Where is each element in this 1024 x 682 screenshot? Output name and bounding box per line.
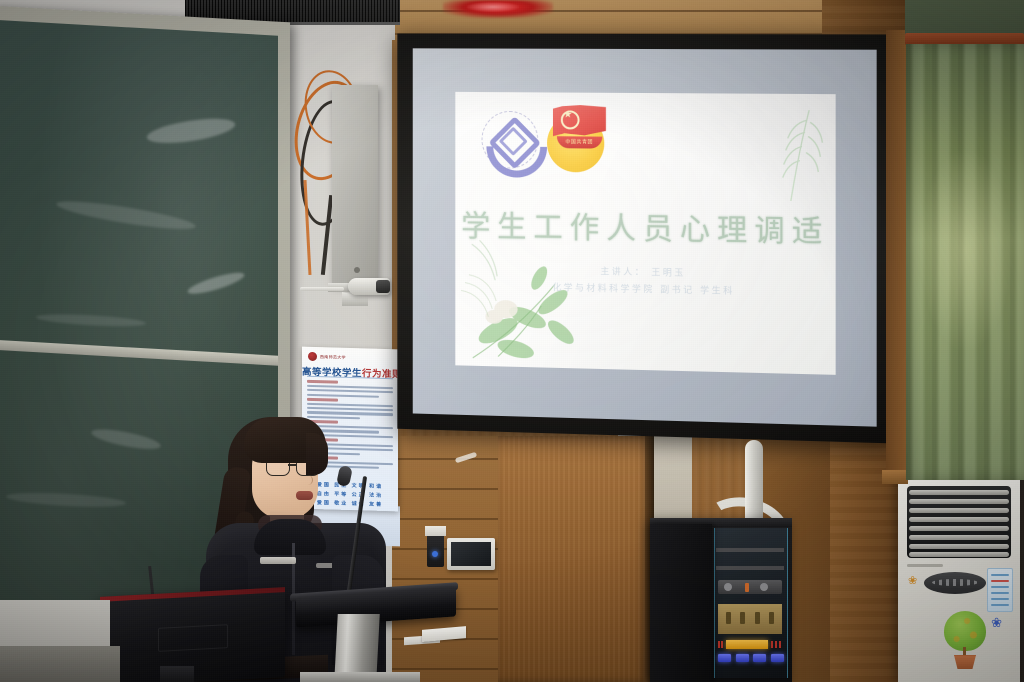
youth-league-emblem-icon: 中国共青团 — [545, 105, 610, 171]
wall-switch[interactable] — [427, 533, 444, 567]
ac-control-display[interactable] — [924, 572, 986, 594]
screen-mat: 中国共青团 — [413, 48, 877, 426]
presenter-mouth — [296, 491, 313, 500]
presentation-slide: 中国共青团 — [455, 92, 835, 375]
presenter-collar — [254, 519, 326, 555]
curtain-backlight — [920, 150, 1012, 350]
wall-mounted-speaker — [332, 85, 378, 285]
poster-university-label: 西南师范大学 — [320, 354, 346, 361]
camera-lens — [376, 280, 390, 293]
projection-screen: 中国共青团 — [397, 34, 895, 444]
monitor-stand — [160, 666, 194, 682]
rack-button-row[interactable] — [718, 654, 784, 663]
presenter-hair-front — [244, 417, 326, 463]
curtain-valance — [905, 0, 1024, 36]
potted-tree-sticker-icon — [942, 611, 988, 669]
rack-numeric-display — [726, 640, 768, 649]
slide-title: 学生工作人员心理调适 — [455, 201, 835, 251]
university-seal-icon — [308, 352, 317, 361]
ac-air-grille — [907, 486, 1011, 558]
rack-led-bank-left — [718, 641, 724, 648]
butterfly-sticker-orange-icon: ❀ — [908, 576, 917, 587]
rack-open-door[interactable] — [650, 524, 712, 682]
chalkboard-divider — [0, 340, 278, 366]
security-camera — [338, 278, 392, 308]
control-panel-screen — [451, 542, 491, 566]
av-equipment-rack[interactable] — [652, 518, 792, 682]
rack-led-bank-right — [771, 641, 781, 648]
window-frame — [886, 30, 908, 480]
cable-conduit — [745, 440, 763, 528]
podium-base — [300, 672, 420, 682]
power-indicator-led — [432, 551, 438, 557]
leaf-decor-top-right-icon — [757, 108, 828, 210]
presenter-coat-logo — [260, 557, 296, 564]
poster-university-logo: 西南师范大学 — [308, 351, 354, 363]
rack-gear-top — [718, 580, 782, 594]
window-sill — [882, 470, 908, 484]
floor — [0, 646, 120, 682]
rack-amplifier-faceplate — [718, 604, 782, 634]
wall-control-panel[interactable] — [447, 538, 495, 570]
floor-standing-air-conditioner[interactable]: ❀ ❀ — [898, 476, 1020, 682]
butterfly-sticker-blue-icon: ❀ — [991, 616, 1002, 629]
youth-league-banner-text: 中国共青团 — [557, 138, 602, 145]
led-glow-core — [467, 2, 519, 12]
wooden-door[interactable] — [498, 436, 648, 682]
ac-info-label-sticker — [987, 568, 1013, 612]
university-emblem-icon — [481, 111, 538, 169]
classroom-photo-scene: 西南师范大学 高等学校学生行为准则 爱国 民主 文明 和谐 自由 平等 公正 法… — [0, 0, 1024, 682]
